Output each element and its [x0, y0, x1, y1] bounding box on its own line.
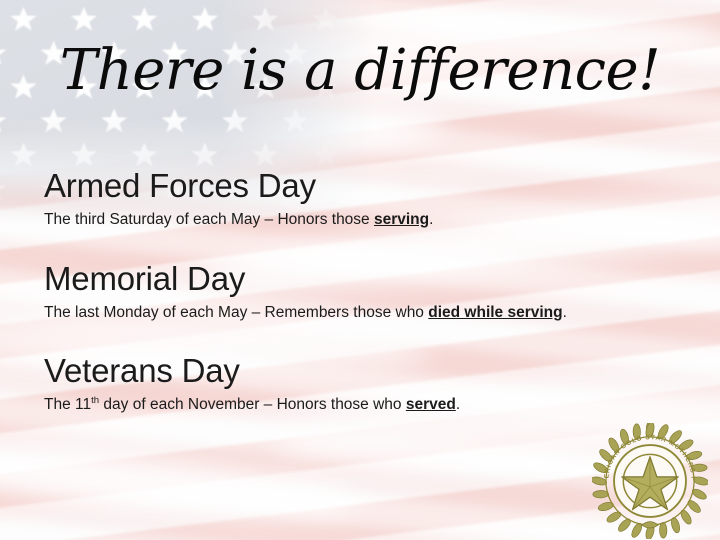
slide-title: There is a difference! — [0, 42, 720, 101]
section-memorial-day: Memorial Day The last Monday of each May… — [44, 261, 696, 324]
body-text-trailing: . — [456, 396, 460, 413]
body-text-leading: The 11 — [44, 396, 91, 413]
body-text-leading: The third Saturday of each May – Honors … — [44, 211, 374, 228]
body-text-ordinal-suffix: th — [91, 395, 99, 406]
body-text-emphasis: died while serving — [428, 304, 562, 321]
slide-canvas: There is a difference! Armed Forces Day … — [0, 0, 720, 540]
section-heading: Memorial Day — [44, 261, 696, 298]
body-text-leading: The last Monday of each May – Remembers … — [44, 304, 428, 321]
section-body: The third Saturday of each May – Honors … — [44, 210, 696, 231]
section-body: The last Monday of each May – Remembers … — [44, 303, 696, 324]
body-text-leading-continued: day of each November – Honors those who — [99, 396, 406, 413]
slide-content: There is a difference! Armed Forces Day … — [0, 0, 720, 540]
section-body: The 11th day of each November – Honors t… — [44, 395, 696, 416]
body-text-trailing: . — [563, 304, 567, 321]
body-text-trailing: . — [429, 211, 433, 228]
section-heading: Armed Forces Day — [44, 168, 696, 205]
section-heading: Veterans Day — [44, 353, 696, 390]
body-text-emphasis: serving — [374, 211, 429, 228]
american-gold-star-mothers-logo: AMERICAN GOLD STAR MOTHERS INC — [592, 423, 708, 539]
section-veterans-day: Veterans Day The 11th day of each Novemb… — [44, 353, 696, 416]
wreath-tie — [642, 522, 658, 528]
body-text-emphasis: served — [406, 396, 456, 413]
section-armed-forces-day: Armed Forces Day The third Saturday of e… — [44, 168, 696, 231]
